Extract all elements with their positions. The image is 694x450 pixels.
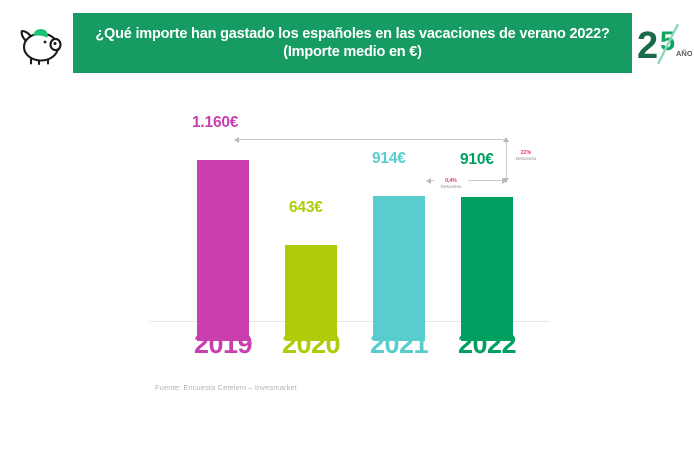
- svg-text:5: 5: [660, 26, 675, 56]
- title-banner: ¿Qué importe han gastado los españoles e…: [73, 13, 632, 73]
- annotation-line-vertical-2022: [506, 139, 507, 180]
- annotation-arrow-left-2021: [426, 178, 431, 184]
- annotation-arrow-up-2022: [503, 137, 509, 142]
- bar-value-2021: 914€: [372, 150, 406, 168]
- svg-text:2: 2: [637, 25, 658, 67]
- annotation-percent-word: Descenso: [512, 156, 540, 162]
- annotation-line-2019-2022: [238, 139, 506, 140]
- bar-2020: [285, 245, 337, 341]
- anniversary-25-years-logo: 2 5 AÑOS: [636, 14, 692, 72]
- page-title-line-2: (Importe medio en €): [283, 43, 422, 61]
- bar-value-2020: 643€: [289, 199, 323, 217]
- annotation-arrow-left-2019: [234, 137, 239, 143]
- annotation-label-04-percent: 0,4% Descenso: [434, 178, 468, 190]
- bar-value-2022: 910€: [460, 151, 494, 169]
- annotation-percent-word: Descenso: [436, 184, 466, 190]
- year-label-2021: 2021: [349, 329, 449, 360]
- page-header: ¿Qué importe han gastado los españoles e…: [0, 0, 694, 88]
- bar-chart: 1.160€ 643€ 914€ 910€ 22% Descenso 0,4% …: [0, 88, 694, 398]
- year-label-2022: 2022: [437, 329, 537, 360]
- bar-2022: [461, 197, 513, 341]
- page-title-line-1: ¿Qué importe han gastado los españoles e…: [95, 25, 609, 43]
- bar-value-2019: 1.160€: [192, 114, 238, 132]
- year-label-2019: 2019: [173, 329, 273, 360]
- bar-2019: [197, 160, 249, 341]
- piggy-bank-icon: [14, 20, 66, 68]
- annotation-arrow-right-2021: [502, 178, 507, 184]
- bar-2021: [373, 196, 425, 341]
- year-label-2020: 2020: [261, 329, 361, 360]
- source-note: Fuente: Encuesta Cetelem – Invesmarket: [155, 383, 297, 392]
- svg-text:AÑOS: AÑOS: [676, 49, 692, 58]
- annotation-label-22-percent: 22% Descenso: [510, 150, 542, 162]
